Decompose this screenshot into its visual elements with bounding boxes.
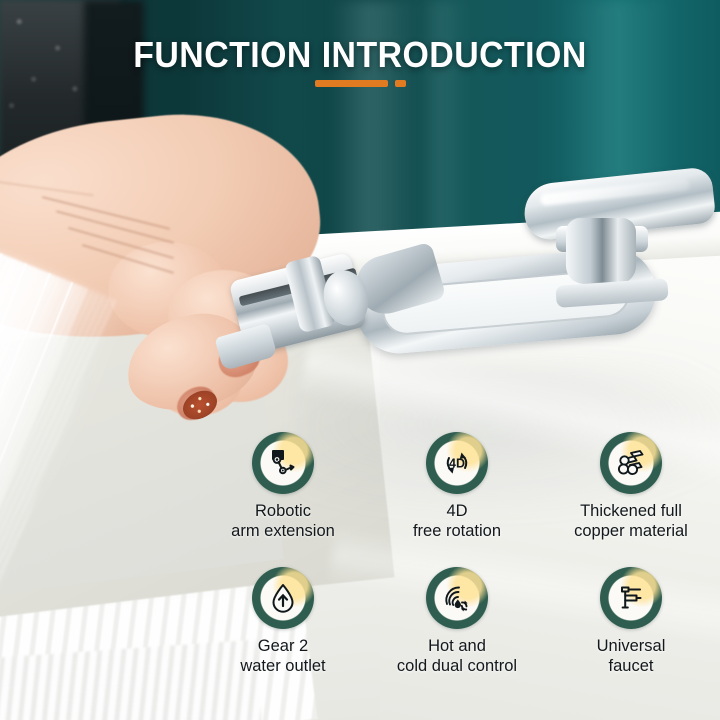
feature-hot-and-cold-dual-control[interactable]: Hot andcold dual control: [370, 567, 544, 676]
divider-bar: [315, 80, 388, 87]
feature-universal-faucet[interactable]: Universalfaucet: [544, 567, 718, 676]
product-feature-graphic: FUNCTION INTRODUCTION: [0, 0, 720, 720]
feature-label: Thickened fullcopper material: [574, 501, 688, 541]
feature-badge: [600, 567, 662, 629]
copper-bundle-icon: [614, 446, 648, 480]
feature-label: Roboticarm extension: [231, 501, 335, 541]
hot-cold-control-icon: [440, 581, 474, 615]
feature-gear-2-water-outlet[interactable]: Gear 2water outlet: [196, 567, 370, 676]
feature-badge: [252, 567, 314, 629]
feature-badge: [426, 567, 488, 629]
4d-text: 4D: [449, 457, 465, 471]
feature-row-bottom: Gear 2water outlet: [196, 567, 720, 676]
feature-label: Universalfaucet: [597, 636, 666, 676]
4d-rotation-icon: 4D: [439, 445, 475, 481]
faucet-neck: [566, 218, 636, 284]
feature-list: Roboticarm extension 4D 4Dfree rotation: [196, 432, 720, 720]
page-title: FUNCTION INTRODUCTION: [22, 34, 699, 76]
feature-row-top: Roboticarm extension 4D 4Dfree rotation: [196, 432, 720, 541]
feature-robotic-arm-extension[interactable]: Roboticarm extension: [196, 432, 370, 541]
divider-dot: [395, 80, 406, 87]
faucet-icon: [614, 581, 648, 615]
feature-4d-free-rotation[interactable]: 4D 4Dfree rotation: [370, 432, 544, 541]
feature-label: Hot andcold dual control: [397, 636, 517, 676]
feature-badge: [252, 432, 314, 494]
title-divider: [0, 80, 720, 87]
feature-label: Gear 2water outlet: [240, 636, 325, 676]
feature-label: 4Dfree rotation: [413, 501, 501, 541]
extender-nozzle: [214, 323, 277, 371]
feature-badge: 4D: [426, 432, 488, 494]
feature-thickened-full-copper-material[interactable]: Thickened fullcopper material: [544, 432, 718, 541]
water-droplet-icon: [266, 581, 300, 615]
feature-badge: [600, 432, 662, 494]
robotic-arm-icon: [266, 446, 300, 480]
